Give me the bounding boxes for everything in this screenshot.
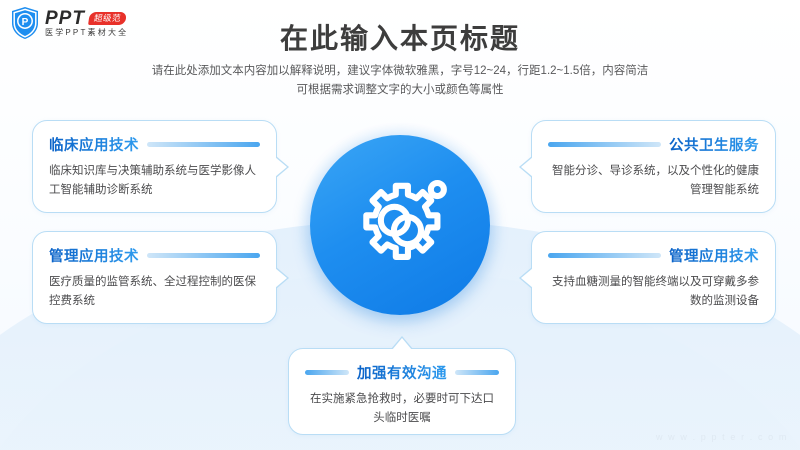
card-body: 支持血糖测量的智能终端以及可穿戴多参数的监测设备 <box>548 273 759 311</box>
page-title: 在此输入本页标题 <box>0 17 800 57</box>
card-header: 管理应用技术 <box>548 245 759 266</box>
card-body: 在实施紧急抢救时，必要时可下达口头临时医嘱 <box>305 390 499 428</box>
gear-icon <box>344 169 456 281</box>
card-title: 公共卫生服务 <box>669 134 759 155</box>
card-accent-line <box>548 253 661 258</box>
card-body: 临床知识库与决策辅助系统与医学影像人工智能辅助诊断系统 <box>49 162 260 200</box>
info-card-communication[interactable]: 加强有效沟通 在实施紧急抢救时，必要时可下达口头临时医嘱 <box>288 348 516 435</box>
pointer-arrow-left-fill <box>521 268 533 288</box>
card-title: 管理应用技术 <box>49 245 139 266</box>
card-header: 公共卫生服务 <box>548 134 759 155</box>
pointer-arrow-right-fill <box>275 268 287 288</box>
card-header: 临床应用技术 <box>49 134 260 155</box>
card-title: 加强有效沟通 <box>357 362 447 383</box>
card-accent-line <box>147 142 260 147</box>
pointer-arrow-left-fill <box>521 157 533 177</box>
site-watermark: w w w . p p t e r . c o m <box>656 432 788 442</box>
subtitle-line-2: 可根据需求调整文字的大小或颜色等属性 <box>0 81 800 100</box>
card-accent-line-right <box>455 370 499 375</box>
center-hub <box>310 135 490 315</box>
info-card-management-right[interactable]: 管理应用技术 支持血糖测量的智能终端以及可穿戴多参数的监测设备 <box>531 231 776 324</box>
subtitle-line-1: 请在此处添加文本内容加以解释说明，建议字体微软雅黑，字号12~24，行距1.2~… <box>0 62 800 81</box>
card-body: 智能分诊、导诊系统，以及个性化的健康管理智能系统 <box>548 162 759 200</box>
card-header: 管理应用技术 <box>49 245 260 266</box>
card-header: 加强有效沟通 <box>305 362 499 383</box>
info-card-management-left[interactable]: 管理应用技术 医疗质量的监管系统、全过程控制的医保控费系统 <box>32 231 277 324</box>
card-title: 管理应用技术 <box>669 245 759 266</box>
card-accent-line-left <box>305 370 349 375</box>
pointer-arrow-right-fill <box>275 157 287 177</box>
page-subtitle: 请在此处添加文本内容加以解释说明，建议字体微软雅黑，字号12~24，行距1.2~… <box>0 62 800 100</box>
card-accent-line <box>548 142 661 147</box>
pointer-arrow-up-fill <box>392 338 412 350</box>
card-title: 临床应用技术 <box>49 134 139 155</box>
info-card-clinical[interactable]: 临床应用技术 临床知识库与决策辅助系统与医学影像人工智能辅助诊断系统 <box>32 120 277 213</box>
card-body: 医疗质量的监管系统、全过程控制的医保控费系统 <box>49 273 260 311</box>
card-accent-line <box>147 253 260 258</box>
info-card-public-health[interactable]: 公共卫生服务 智能分诊、导诊系统，以及个性化的健康管理智能系统 <box>531 120 776 213</box>
center-circle[interactable] <box>310 135 490 315</box>
